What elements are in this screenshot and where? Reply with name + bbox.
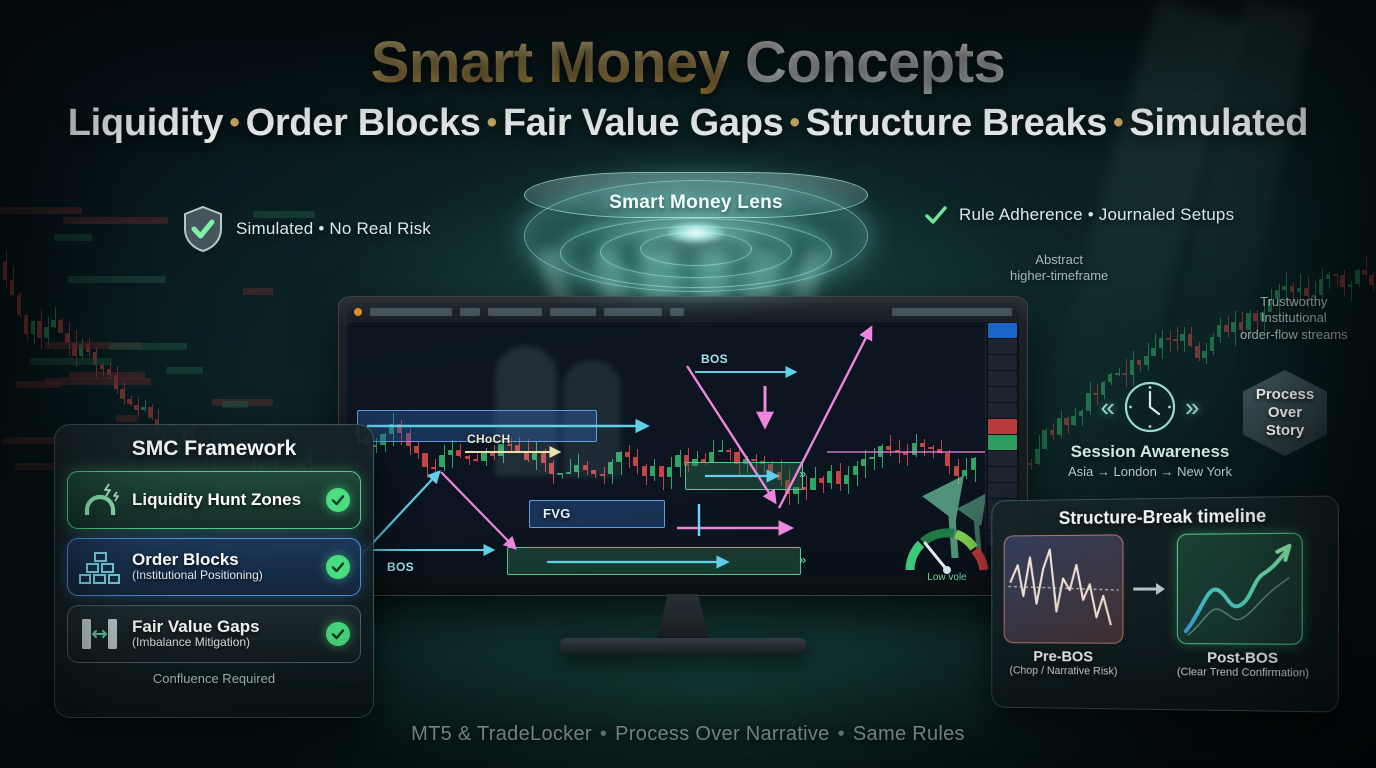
- page-title: Smart Money Concepts: [0, 34, 1376, 92]
- subtitle-item: Fair Value Gaps: [503, 102, 784, 144]
- check-icon: [925, 206, 947, 224]
- candle-body: [24, 315, 28, 334]
- depth-bar: [222, 401, 248, 408]
- candle-body: [1144, 356, 1149, 366]
- candle-body: [44, 327, 48, 338]
- smart-money-lens: Smart Money Lens: [516, 164, 876, 314]
- depth-bar: [63, 217, 168, 224]
- depth-bar: [16, 381, 61, 388]
- depth-bar: [68, 276, 166, 283]
- candle-body: [1130, 360, 1135, 374]
- smc-item-sub: (Imbalance Mitigation): [132, 636, 316, 650]
- note-line: Trustworthy: [1240, 294, 1348, 310]
- post-bos-name: Post-BOS: [1177, 649, 1309, 667]
- candle-body: [1297, 288, 1302, 293]
- marker-bos-lower: BOS: [387, 560, 414, 574]
- pre-bos-thumbnail: [1004, 534, 1124, 643]
- monitor-stand-neck: [656, 594, 710, 642]
- ladder-row[interactable]: [988, 387, 1017, 402]
- smc-item-text: Fair Value Gaps (Imbalance Mitigation): [132, 618, 316, 650]
- status-check-badge: [326, 622, 350, 646]
- depth-bar: [69, 372, 144, 379]
- hex-line-3: Story: [1266, 422, 1304, 440]
- candle-body: [1028, 463, 1033, 465]
- transition-arrow: [1133, 534, 1167, 644]
- badge-simulated-label: Simulated • No Real Risk: [236, 219, 431, 239]
- smc-item-text: Liquidity Hunt Zones: [132, 491, 316, 509]
- marker-bos-upper: BOS: [701, 352, 728, 366]
- subtitle-separator: •: [1107, 106, 1129, 139]
- depth-bar: [109, 343, 187, 350]
- status-check-badge: [326, 555, 350, 579]
- candle-body: [1326, 274, 1331, 279]
- monitor-stand-base: [560, 638, 806, 654]
- subtitle-item: Structure Breaks: [806, 102, 1107, 144]
- candle-body: [58, 320, 62, 333]
- toolbar-tf-chip[interactable]: [460, 308, 480, 316]
- candle-body: [1319, 279, 1324, 294]
- structure-break-timeline-panel: Structure-Break timeline Pre-BOS (Chop /…: [991, 495, 1339, 712]
- candle-wick: [145, 400, 146, 412]
- status-check-badge: [326, 488, 350, 512]
- depth-bar: [54, 234, 91, 241]
- chevron-right-icon: »: [1185, 392, 1199, 423]
- ladder-row[interactable]: [988, 483, 1017, 498]
- footer-separator: •: [830, 723, 853, 745]
- ladder-row[interactable]: [988, 371, 1017, 386]
- note-line: Abstract: [1010, 252, 1108, 268]
- check-icon: [331, 560, 345, 574]
- candle-body: [1195, 346, 1200, 358]
- depth-bar: [30, 358, 112, 365]
- post-bos-thumbnail: [1177, 533, 1303, 645]
- candle-body: [1202, 351, 1207, 358]
- post-bos-caption: Post-BOS (Clear Trend Confirmation): [1177, 649, 1309, 679]
- candle-body: [1231, 322, 1236, 332]
- ladder-row[interactable]: [988, 451, 1017, 466]
- subtitle-line: Liquidity•Order Blocks•Fair Value Gaps•S…: [0, 102, 1376, 145]
- candle-body: [1188, 334, 1193, 345]
- badge-rule-adherence: Rule Adherence • Journaled Setups: [925, 205, 1234, 225]
- marker-fvg: FVG: [543, 506, 571, 521]
- headline-block: Smart Money Concepts Liquidity•Order Blo…: [0, 34, 1376, 145]
- depth-bar: [45, 378, 152, 385]
- note-abstract-higher-timeframe: Abstract higher-timeframe: [1010, 252, 1108, 285]
- candle-wick: [1337, 274, 1338, 288]
- smc-item-name: Fair Value Gaps: [132, 618, 316, 636]
- badge-simulated: Simulated • No Real Risk: [182, 205, 431, 253]
- hex-line-1: Process: [1256, 386, 1314, 404]
- ladder-row[interactable]: [988, 403, 1017, 418]
- clock-icon: [1121, 378, 1179, 436]
- shield-check-icon: [182, 205, 224, 253]
- chevron-left-icon: «: [1101, 392, 1115, 423]
- candle-body: [1224, 325, 1229, 332]
- candle-body: [1115, 373, 1120, 375]
- candle-body: [1217, 325, 1222, 337]
- candle-body: [1282, 286, 1287, 290]
- marker-choch: CHoCH: [467, 432, 511, 446]
- smc-item-name: Order Blocks: [132, 551, 316, 569]
- candle-body: [1369, 275, 1374, 285]
- pre-bos-name: Pre-BOS: [1004, 648, 1124, 666]
- hex-line-2: Over: [1268, 404, 1302, 422]
- hex-badge-text: Process Over Story: [1243, 370, 1327, 456]
- subtitle-separator: •: [783, 106, 805, 139]
- session-title: Session Awareness: [1060, 442, 1240, 462]
- candle-body: [1137, 360, 1142, 365]
- trend-line-chart: [1178, 534, 1302, 644]
- candle-body: [1159, 338, 1164, 348]
- svg-text:»: »: [799, 552, 806, 567]
- chop-line-chart: [1005, 535, 1123, 642]
- pre-bos-sub: (Chop / Narrative Risk): [1004, 665, 1124, 678]
- title-white-part: Concepts: [729, 30, 1005, 95]
- svg-text:»: »: [799, 466, 806, 481]
- badge-rule-adherence-label: Rule Adherence • Journaled Setups: [959, 205, 1234, 225]
- ladder-row-ask[interactable]: [988, 419, 1017, 434]
- smc-item-order-blocks[interactable]: Order Blocks (Institutional Positioning): [67, 538, 361, 596]
- session-clock-row: « »: [1060, 378, 1240, 436]
- gauge-label: Low vole: [904, 572, 990, 583]
- candle-body: [65, 333, 69, 343]
- candle-body: [120, 389, 124, 399]
- candle-body: [3, 261, 7, 280]
- ladder-row-bid[interactable]: [988, 435, 1017, 450]
- ladder-row[interactable]: [988, 339, 1017, 354]
- depth-bar: [243, 288, 274, 295]
- lens-label: Smart Money Lens: [516, 192, 876, 214]
- subtitle-separator: •: [223, 106, 245, 139]
- smc-item-name: Liquidity Hunt Zones: [132, 491, 316, 509]
- sbp-card-pre-bos[interactable]: Pre-BOS (Chop / Narrative Risk): [1004, 534, 1124, 677]
- ladder-row[interactable]: [988, 467, 1017, 482]
- sbp-cards: Pre-BOS (Chop / Narrative Risk): [992, 532, 1338, 679]
- sbp-card-post-bos[interactable]: Post-BOS (Clear Trend Confirmation): [1177, 533, 1309, 680]
- smc-item-liquidity-hunt-zones[interactable]: Liquidity Hunt Zones: [67, 471, 361, 529]
- candle-body: [37, 321, 41, 338]
- note-line: Institutional: [1240, 310, 1348, 326]
- candle-body: [1173, 339, 1178, 341]
- gap-arrows-icon: [78, 614, 122, 654]
- smc-item-sub: (Institutional Positioning): [132, 569, 316, 583]
- candle-body: [51, 320, 55, 327]
- candle-body: [1050, 430, 1055, 435]
- subtitle-item: Simulated: [1129, 102, 1308, 144]
- subtitle-item: Liquidity: [68, 102, 224, 144]
- smc-panel-title: SMC Framework: [67, 437, 361, 461]
- candle-body: [134, 405, 138, 411]
- candle-body: [1210, 337, 1215, 351]
- depth-bar: [0, 207, 82, 214]
- check-icon: [331, 493, 345, 507]
- smc-item-fair-value-gaps[interactable]: Fair Value Gaps (Imbalance Mitigation): [67, 605, 361, 663]
- footer-separator: •: [592, 723, 615, 745]
- candle-body: [1122, 373, 1127, 375]
- depth-bar: [116, 415, 137, 422]
- process-over-story-badge: Process Over Story: [1243, 370, 1327, 456]
- note-trustworthy-orderflow: Trustworthy Institutional order-flow str…: [1240, 294, 1348, 343]
- note-line: order-flow streams: [1240, 327, 1348, 343]
- candle-body: [31, 321, 35, 334]
- magnet-icon: [78, 480, 122, 520]
- candle-body: [1180, 334, 1185, 341]
- candle-body: [1042, 430, 1047, 449]
- candle-wick: [1170, 331, 1171, 352]
- toolbar-right-chip[interactable]: [892, 308, 1012, 316]
- candle-body: [1151, 348, 1156, 356]
- subtitle-separator: •: [481, 106, 503, 139]
- candle-body: [10, 280, 14, 295]
- subtitle-item: Order Blocks: [246, 102, 481, 144]
- candle-body: [100, 365, 104, 370]
- title-gold-part: Smart Money: [371, 30, 730, 95]
- footer-item: Same Rules: [853, 723, 965, 745]
- candle-body: [1290, 286, 1295, 293]
- candle-body: [148, 407, 152, 419]
- footer-item: MT5 & TradeLocker: [411, 723, 592, 745]
- candle-body: [1362, 270, 1367, 275]
- toolbar-logo-icon: [354, 308, 362, 316]
- post-bos-sub: (Clear Trend Confirmation): [1177, 666, 1309, 679]
- session-flow: Asia → London → New York: [1060, 464, 1240, 479]
- depth-bar: [166, 367, 204, 374]
- candle-body: [17, 295, 21, 314]
- infographic-canvas: Smart Money Concepts Liquidity•Order Blo…: [0, 0, 1376, 768]
- sbp-title: Structure-Break timeline: [992, 505, 1338, 530]
- smc-panel-footer: Confluence Required: [67, 671, 361, 686]
- candle-body: [1340, 275, 1345, 287]
- smc-framework-panel: SMC Framework Liquidity Hunt Zones: [54, 424, 374, 718]
- lens-core-glow: [666, 222, 726, 244]
- footer-item: Process Over Narrative: [615, 723, 829, 745]
- footer-line: MT5 & TradeLocker•Process Over Narrative…: [0, 723, 1376, 746]
- session-awareness-block: « » Session Awareness Asia → London → Ne…: [1060, 378, 1240, 479]
- candle-body: [1035, 449, 1040, 464]
- check-icon: [331, 627, 345, 641]
- pre-bos-caption: Pre-BOS (Chop / Narrative Risk): [1004, 648, 1124, 678]
- ladder-row-selected[interactable]: [988, 323, 1017, 338]
- note-line: higher-timeframe: [1010, 268, 1108, 284]
- candle-body: [1355, 270, 1360, 284]
- volatility-gauge: Low vole: [904, 524, 990, 580]
- candle-wick: [1366, 256, 1367, 278]
- toolbar-symbol-chip[interactable]: [370, 308, 452, 316]
- candle-body: [127, 399, 131, 404]
- ladder-row[interactable]: [988, 355, 1017, 370]
- arrow-right-icon: [1133, 581, 1167, 597]
- gauge-dial-icon: [904, 524, 990, 574]
- blocks-icon: [78, 547, 122, 587]
- smc-item-text: Order Blocks (Institutional Positioning): [132, 551, 316, 583]
